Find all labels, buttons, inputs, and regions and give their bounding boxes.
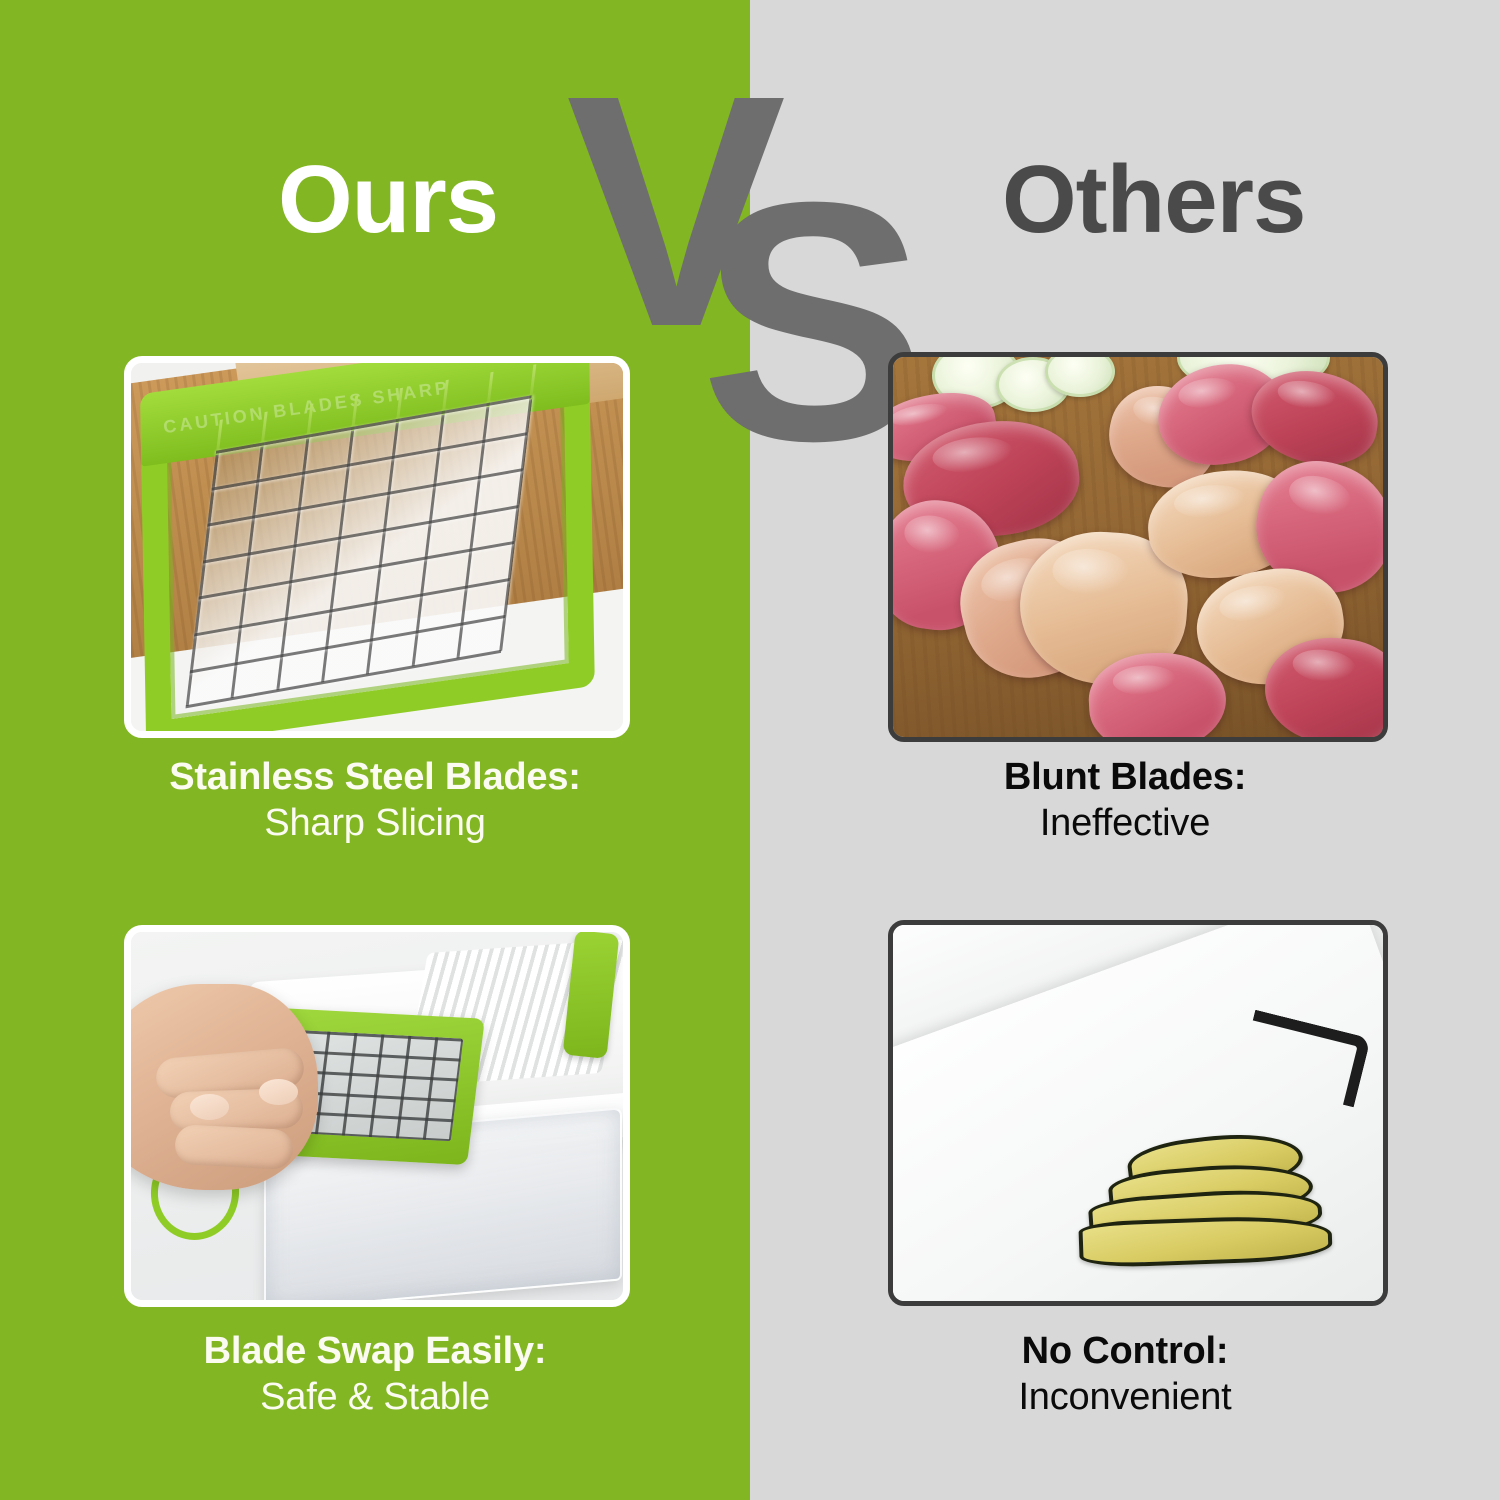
photo-hand-swapping-green-blade-insert-on-slicer [131, 932, 623, 1300]
caption-blunt-blades: Blunt Blades: Ineffective [750, 754, 1500, 847]
caption-subtitle: Inconvenient [750, 1374, 1500, 1420]
caption-subtitle: Ineffective [750, 800, 1500, 846]
page-title-others: Others [1002, 152, 1305, 248]
caption-stainless-steel-blades: Stainless Steel Blades: Sharp Slicing [0, 754, 750, 847]
blade-frame: CAUTION BLADES SHARP [140, 363, 594, 731]
caption-subtitle: Safe & Stable [0, 1374, 750, 1420]
card-no-control [888, 920, 1388, 1306]
photo-white-mandoline-black-blade-with-zucchini-slices [893, 925, 1383, 1301]
card-stainless-steel-blades: CAUTION BLADES SHARP [124, 356, 630, 738]
card-blunt-blades [888, 352, 1388, 742]
photo-messy-chopped-tomatoes-on-wooden-board [893, 357, 1383, 737]
page-title-ours: Ours [278, 152, 498, 248]
photo-green-blade-cartridge-on-cutting-board: CAUTION BLADES SHARP [131, 363, 623, 731]
caption-subtitle: Sharp Slicing [0, 800, 750, 846]
caption-blade-swap-easily: Blade Swap Easily: Safe & Stable [0, 1328, 750, 1421]
card-blade-swap-easily [124, 925, 630, 1307]
comparison-infographic: Ours Others V S CAUTION BLADES SHARP [0, 0, 1500, 1500]
caption-title: Stainless Steel Blades: [0, 754, 750, 800]
caption-no-control: No Control: Inconvenient [750, 1328, 1500, 1421]
caption-title: Blade Swap Easily: [0, 1328, 750, 1374]
caption-title: No Control: [750, 1328, 1500, 1374]
caption-title: Blunt Blades: [750, 754, 1500, 800]
